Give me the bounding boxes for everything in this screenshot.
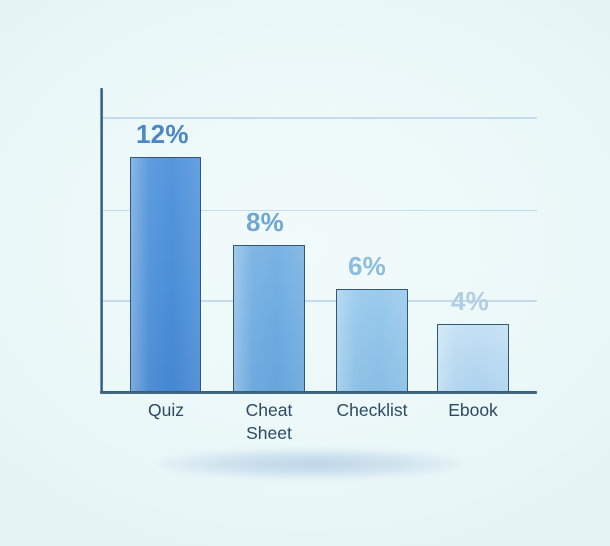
bar-ebook[interactable] xyxy=(437,324,509,392)
x-tick-label-checklist: Checklist xyxy=(320,399,424,422)
x-tick-label-ebook: Ebook xyxy=(421,399,525,422)
value-label-checklist: 6% xyxy=(348,251,386,282)
bar-checklist[interactable] xyxy=(336,289,408,392)
bar-sheen xyxy=(131,158,200,391)
bar-quiz[interactable] xyxy=(130,157,201,391)
chart-canvas: 12% 8% 6% 4% Quiz Cheat Sheet Checklist … xyxy=(0,0,610,546)
x-tick-label-quiz: Quiz xyxy=(115,399,217,422)
x-tick-label-cheat-sheet: Cheat Sheet xyxy=(219,399,319,445)
bar-sheen xyxy=(438,325,508,392)
x-axis-line xyxy=(100,391,537,394)
value-label-ebook: 4% xyxy=(451,286,489,317)
bar-sheen xyxy=(234,246,304,392)
value-label-quiz: 12% xyxy=(136,119,189,150)
y-axis-line xyxy=(100,88,103,393)
value-label-cheat-sheet: 8% xyxy=(246,207,284,238)
bar-cheat-sheet[interactable] xyxy=(233,245,305,392)
bar-sheen xyxy=(337,290,407,392)
plot-area: 12% 8% 6% 4% Quiz Cheat Sheet Checklist … xyxy=(0,0,610,546)
